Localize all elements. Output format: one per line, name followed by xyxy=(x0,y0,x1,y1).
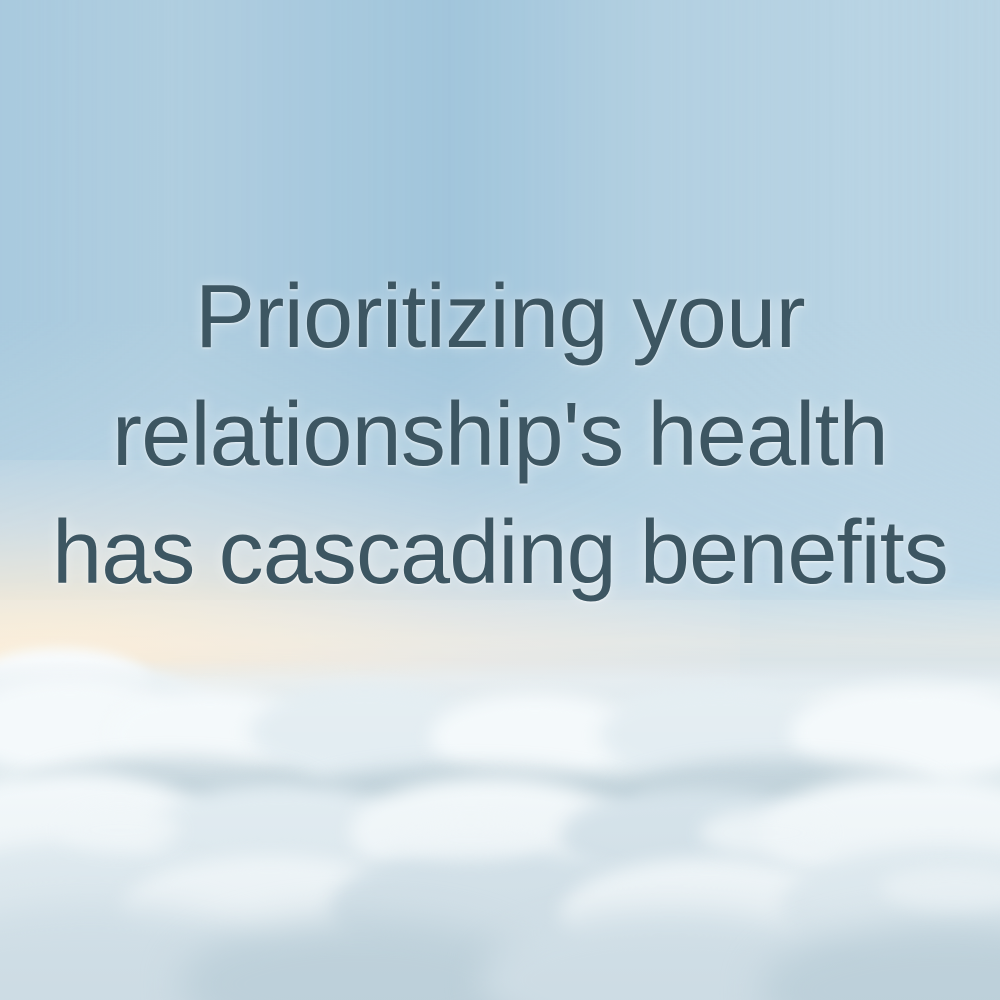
quote-text: Prioritizing your relationship's health … xyxy=(0,258,1000,612)
cloud-highlight xyxy=(700,810,830,856)
quote-line-1: Prioritizing your xyxy=(0,258,1000,376)
quote-line-2: relationship's health xyxy=(0,376,1000,494)
cloud-highlight xyxy=(60,808,180,852)
quote-line-3: has cascading benefits xyxy=(0,494,1000,612)
cloud-sea xyxy=(0,660,1000,1000)
quote-card: Prioritizing your relationship's health … xyxy=(0,0,1000,1000)
cloud-highlight xyxy=(400,820,540,860)
